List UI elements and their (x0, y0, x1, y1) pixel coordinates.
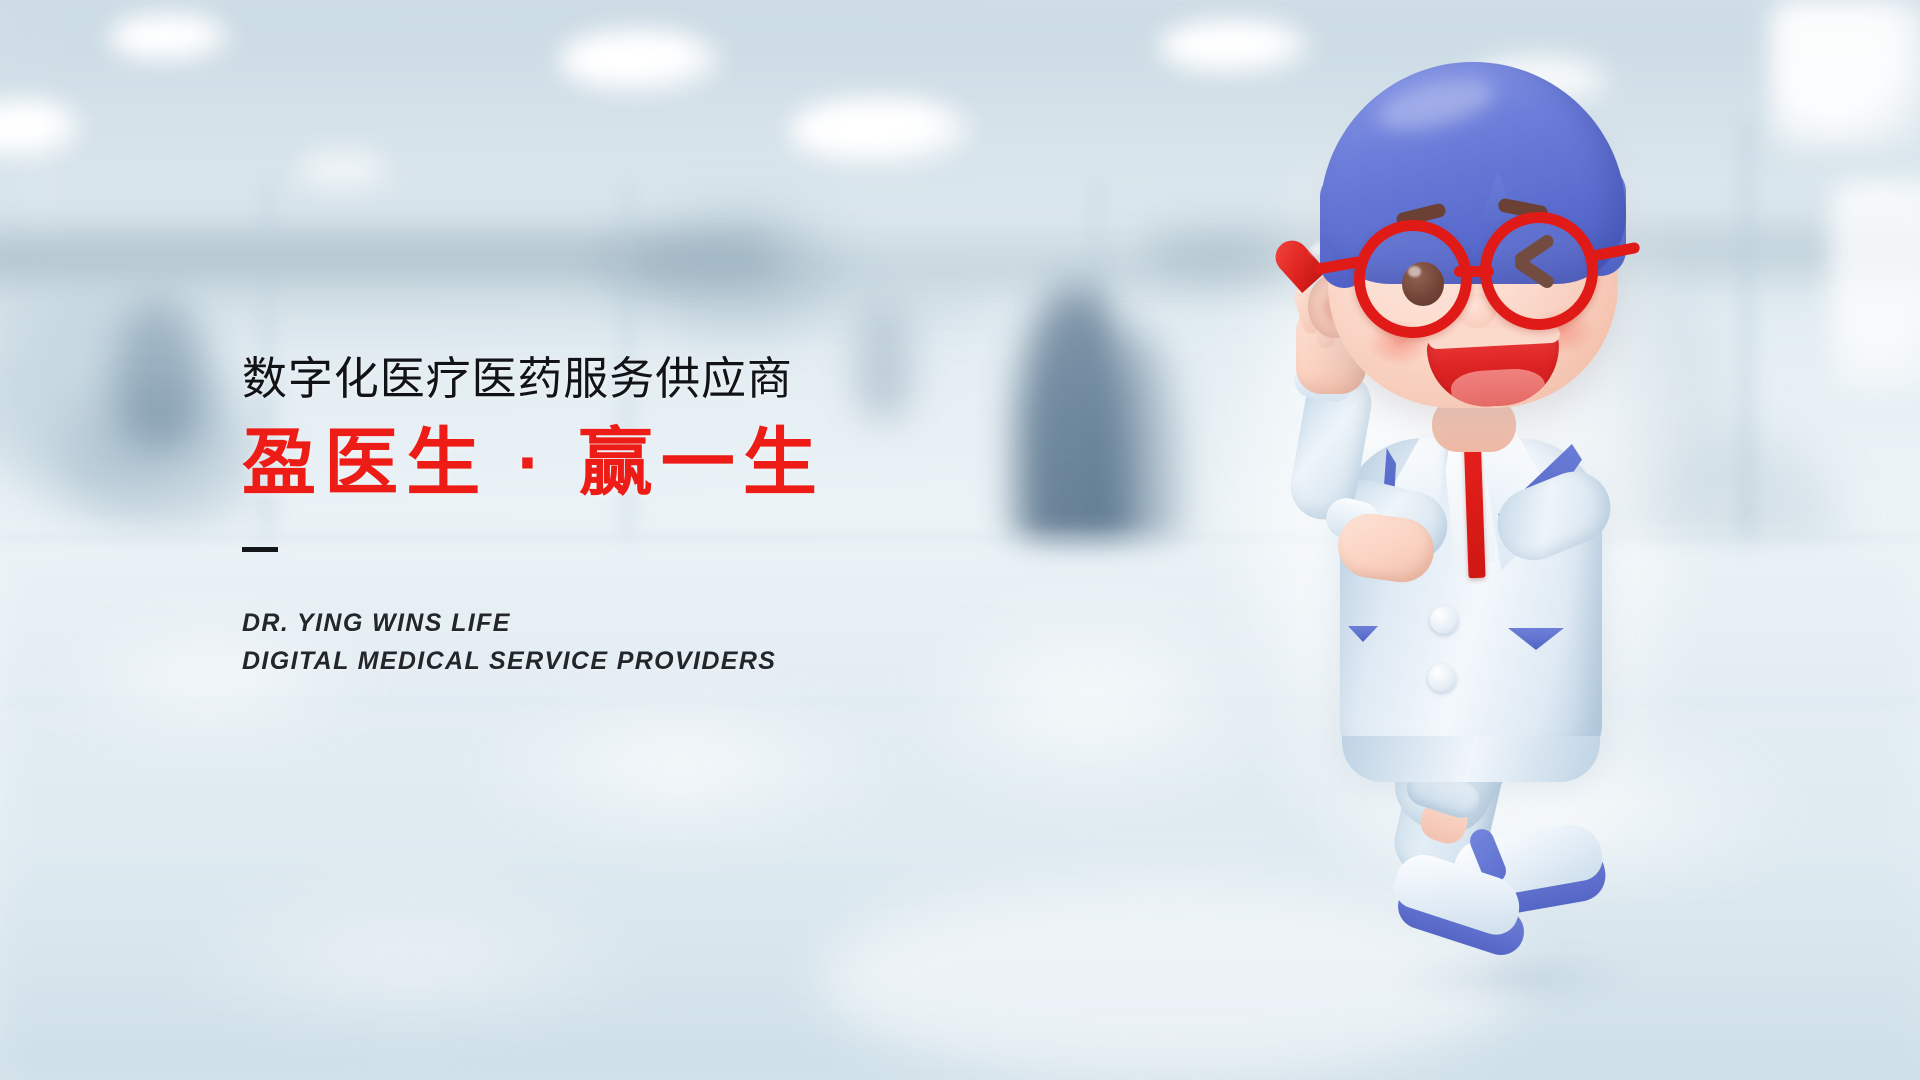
page-title: 盈医生 · 赢一生 (242, 422, 1002, 505)
banner-stage: 数字化医疗医药服务供应商 盈医生 · 赢一生 DR. YING WINS LIF… (0, 0, 1920, 1080)
kicker-text: 数字化医疗医药服务供应商 (242, 352, 1002, 406)
subtitle-line-2: DIGITAL MEDICAL SERVICE PROVIDERS (242, 642, 1002, 680)
lab-coat-hem (1342, 736, 1600, 782)
divider-rule (242, 547, 278, 552)
tongue (1450, 367, 1546, 409)
glasses-lens-left (1354, 220, 1472, 338)
headline-copy-block: 数字化医疗医药服务供应商 盈医生 · 赢一生 DR. YING WINS LIF… (242, 352, 1002, 680)
coat-button (1430, 606, 1458, 634)
subtitle-line-1: DR. YING WINS LIFE (242, 604, 1002, 642)
floor-reflection (470, 690, 890, 840)
floor-reflection (150, 880, 670, 1040)
glasses-lens-right (1480, 212, 1598, 330)
mascot-ground-shadow (1386, 958, 1636, 998)
subtitle-block: DR. YING WINS LIFE DIGITAL MEDICAL SERVI… (242, 604, 1002, 680)
doctor-mascot (1180, 50, 1740, 1040)
coat-button (1428, 664, 1456, 692)
glasses-bridge (1454, 266, 1494, 277)
